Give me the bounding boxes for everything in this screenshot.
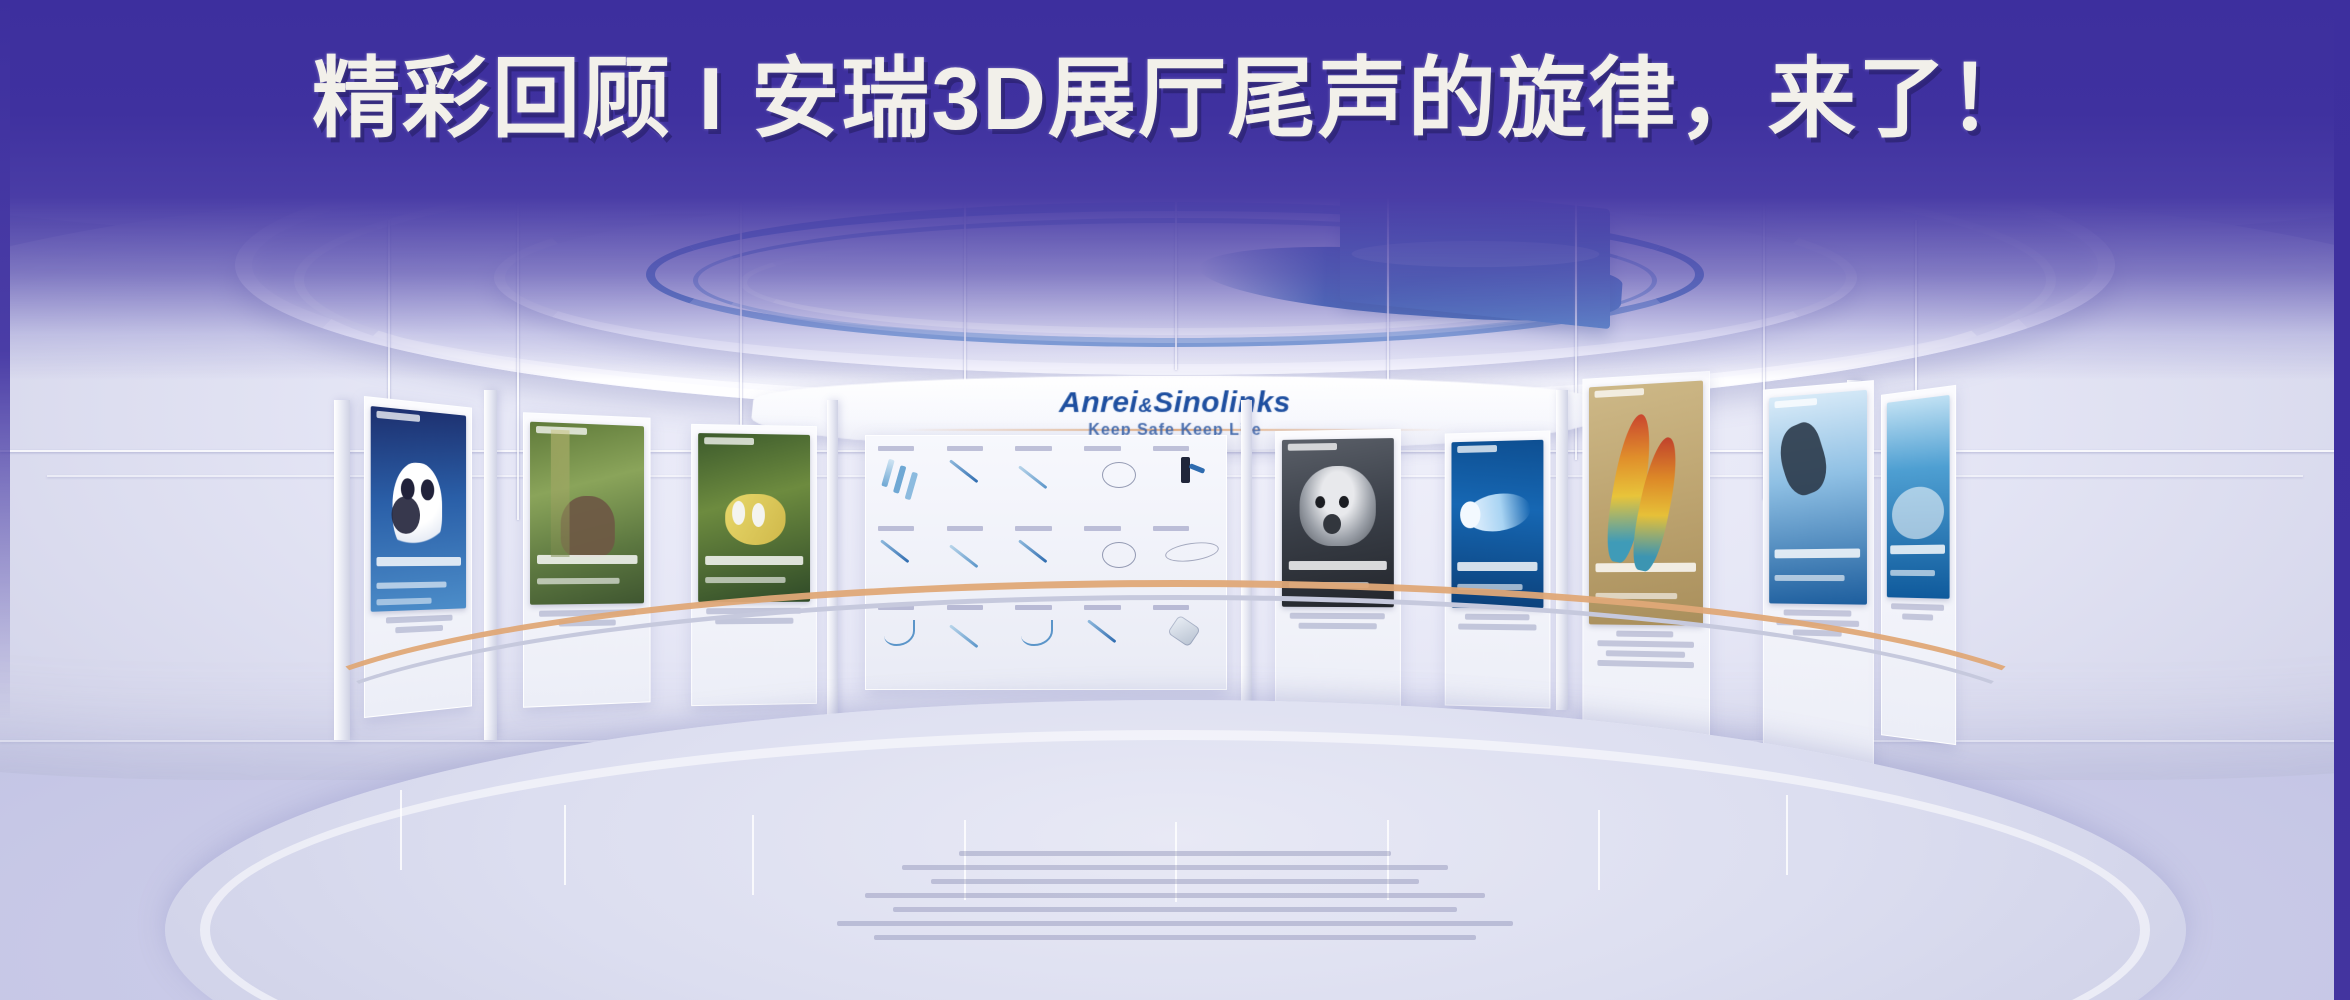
left-edge-border — [0, 0, 10, 1000]
poster-brandmark — [1595, 388, 1644, 398]
railing-post — [564, 805, 566, 885]
ceiling-spot-light — [2092, 145, 2138, 163]
poster-subtitle-bar — [1775, 575, 1845, 581]
poster-subtitle-bar — [705, 577, 786, 583]
ceiling-ring-core — [0, 0, 776, 85]
hanging-rod — [1387, 160, 1389, 400]
spec-label — [947, 446, 983, 451]
device-rod-icon — [1015, 535, 1076, 579]
caption-line — [1892, 603, 1945, 611]
spec-cell — [1084, 446, 1145, 520]
floor-text-line — [931, 879, 1420, 884]
device-trio-icon — [878, 455, 939, 499]
right-edge-border — [2334, 0, 2350, 1000]
poster-title-bar — [1891, 545, 1946, 555]
spec-label — [1015, 446, 1051, 451]
brand-name-part1: Anrei — [1059, 386, 1139, 419]
showroom-scene: Anrei&Sinolinks Keep Safe Keep Life — [0, 0, 2350, 1000]
floor-text-line — [865, 893, 1485, 898]
spec-label — [1153, 446, 1189, 451]
poster-deer — [530, 422, 644, 605]
poster-title-bar — [1596, 563, 1696, 573]
floor-text-line — [902, 865, 1447, 870]
poster-title-bar — [705, 556, 803, 565]
spec-label — [1084, 446, 1120, 451]
spec-cell — [1153, 446, 1214, 520]
device-rod-icon — [1015, 455, 1076, 499]
device-rod-icon — [878, 535, 939, 579]
caption-line — [1902, 614, 1933, 621]
railing-post — [400, 790, 402, 870]
floor-text-line — [959, 851, 1391, 856]
ceiling-spot-light — [1833, 85, 1891, 107]
poster-caption — [370, 614, 465, 634]
poster-title-bar — [1775, 548, 1861, 558]
railing-post — [1786, 795, 1788, 875]
poster-brandmark — [376, 411, 419, 422]
brand-name-part2: Sinolinks — [1153, 386, 1291, 419]
spec-label — [947, 526, 983, 531]
poster-title-bar — [1288, 561, 1386, 570]
poster-balloon — [1451, 440, 1543, 609]
floor-text-line — [893, 907, 1457, 912]
brand-ampersand: & — [1138, 395, 1153, 417]
ceiling-spot-light — [122, 95, 184, 119]
floor-text-line — [837, 921, 1514, 926]
poster-wave — [1887, 395, 1949, 599]
spec-label — [1084, 526, 1120, 531]
poster-frog — [698, 433, 810, 602]
poster-subtitle-bar — [376, 581, 445, 588]
brand-logo-text: Anrei&Sinolinks — [1059, 386, 1291, 420]
poster-brandmark — [1287, 443, 1336, 451]
spec-cell — [878, 446, 939, 520]
poster-subtitle-bar-2 — [376, 597, 430, 605]
device-loop-icon — [1084, 535, 1145, 579]
stage-floor-text — [705, 851, 1645, 940]
poster-caption — [1887, 603, 1949, 621]
device-hub-icon — [1153, 455, 1214, 499]
poster-subtitle-bar — [537, 578, 619, 585]
spec-label — [1153, 526, 1189, 531]
device-rod-icon — [947, 535, 1008, 579]
device-ellipse-icon — [1153, 535, 1214, 579]
caption-line — [1783, 609, 1851, 616]
poster-bird — [1589, 381, 1703, 626]
spec-cell — [947, 446, 1008, 520]
poster-title-bar — [1457, 562, 1538, 571]
poster-brandmark — [704, 437, 754, 445]
hanging-rod — [517, 180, 519, 520]
poster-title-bar — [537, 555, 637, 564]
poster-subtitle-bar — [1891, 570, 1936, 576]
floor-text-line — [874, 935, 1476, 940]
poster-panda — [370, 406, 465, 611]
spec-label — [878, 526, 914, 531]
exhibition-banner: Anrei&Sinolinks Keep Safe Keep Life — [0, 0, 2350, 1000]
poster-brandmark — [1457, 445, 1497, 453]
hanging-rod — [1175, 130, 1177, 370]
spec-cell — [1015, 446, 1076, 520]
spec-label — [878, 446, 914, 451]
poster-brandmark — [1774, 398, 1816, 408]
device-rod-icon — [947, 455, 1008, 499]
poster-brandmark — [536, 426, 587, 435]
device-loop-icon — [1084, 455, 1145, 499]
hanging-rod — [740, 140, 742, 440]
caption-line — [395, 624, 443, 632]
poster-title-bar — [376, 557, 460, 566]
poster-ice — [1769, 390, 1866, 605]
caption-line — [385, 614, 452, 623]
ceiling-spot-light — [1422, 60, 1462, 74]
spec-label — [1015, 526, 1051, 531]
